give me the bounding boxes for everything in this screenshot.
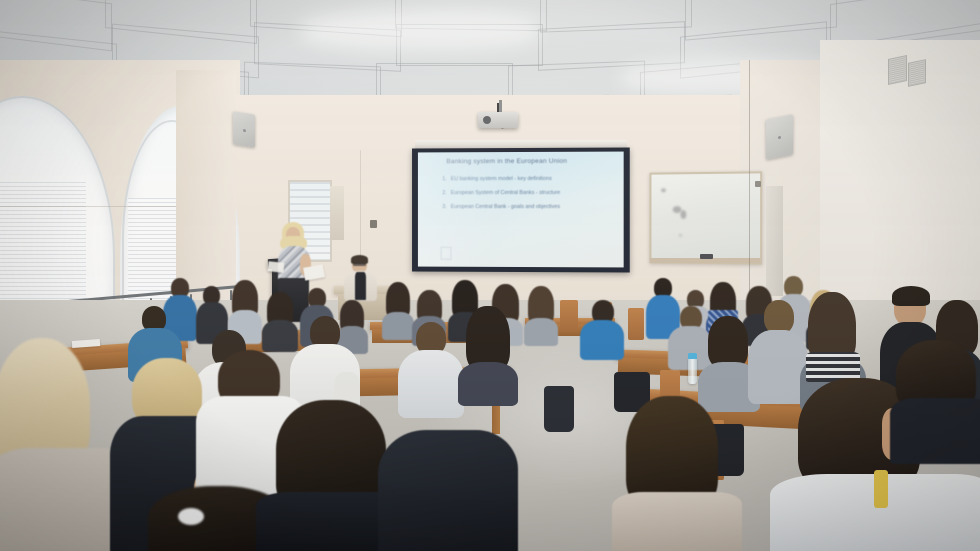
bottle-cap (688, 353, 697, 359)
lecturer-papers (268, 261, 285, 273)
speaker-left-icon (233, 111, 255, 147)
ceiling-vent (908, 59, 926, 87)
student-light-top (612, 492, 742, 551)
student-hair (892, 286, 930, 306)
projection-screen: Banking system in the European Union 1.E… (412, 147, 630, 272)
bench-back (628, 308, 644, 340)
water-bottle (688, 358, 697, 384)
student-foreground-right-center (378, 430, 518, 551)
student-mid-row (398, 322, 464, 414)
backpack (544, 386, 574, 432)
lecture-hall-photo: Banking system in the European Union 1.E… (0, 0, 980, 551)
student-torso (398, 350, 464, 418)
student-torso (580, 320, 624, 360)
back-window-frame (330, 186, 344, 240)
ceiling-vent (888, 55, 907, 85)
speaker-cone (243, 128, 246, 131)
ceiling-light-glow (300, 10, 540, 50)
whiteboard-mark (661, 188, 666, 192)
wall-switch-icon (370, 220, 377, 228)
student-mid-row (580, 300, 624, 358)
ceiling-projector (478, 112, 518, 128)
whiteboard-mark (680, 210, 686, 219)
student-torso (378, 430, 518, 551)
whiteboard-eraser (700, 254, 713, 259)
student-hair (708, 316, 748, 368)
student-right-edge (890, 340, 980, 460)
wall-seam (0, 206, 176, 207)
student-torso (524, 318, 558, 346)
whiteboard-mark (679, 234, 683, 237)
presenter-glasses-icon (353, 263, 366, 266)
student-mid-row (458, 306, 518, 402)
lanyard (874, 470, 888, 508)
student-torso (458, 362, 518, 406)
student-foreground-long-hair (612, 396, 742, 551)
bench-back (560, 300, 578, 332)
projector-lens (483, 116, 491, 124)
seated-presenter (344, 256, 378, 300)
hair-clip (178, 508, 204, 525)
student-head (764, 300, 794, 334)
ceiling-tile (376, 63, 513, 99)
student-torso (890, 398, 980, 464)
student-back-row (524, 286, 558, 344)
speaker-right-icon (766, 114, 793, 159)
screen-glare (418, 152, 541, 268)
projection-screen-surface: Banking system in the European Union 1.E… (418, 152, 624, 268)
wall-sensor-icon (755, 181, 761, 187)
presenter-shirt (355, 272, 366, 300)
whiteboard (650, 171, 763, 264)
speaker-cone (778, 136, 781, 140)
